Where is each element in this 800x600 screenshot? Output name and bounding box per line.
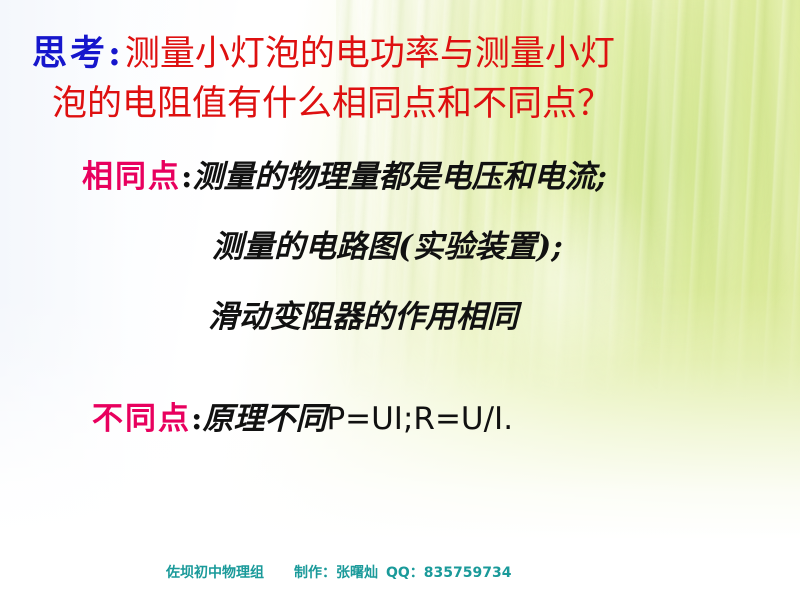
similarities-item-2: 测量的电路图(实验装置); xyxy=(212,229,563,265)
title-lead-label: 思考: xyxy=(32,33,125,74)
footer-organization: 佐坝初中物理组 xyxy=(166,565,264,581)
similarities-line-3: 滑动变阻器的作用相同 xyxy=(208,302,518,333)
differences-text: 原理不同 xyxy=(202,401,326,437)
footer-author: 制作：张曙灿 xyxy=(294,565,378,581)
similarities-item-3: 滑动变阻器的作用相同 xyxy=(208,299,518,335)
footer-credits: 佐坝初中物理组制作：张曙灿QQ：835759734 xyxy=(166,562,511,582)
slide-canvas: 思考:测量小灯泡的电功率与测量小灯 泡的电阻值有什么相同点和不同点？ 相同点:测… xyxy=(0,0,800,600)
similarities-line-2: 测量的电路图(实验装置); xyxy=(212,232,563,263)
differences-line: 不同点:原理不同P=UI;R=U/I. xyxy=(92,404,513,435)
similarities-separator: : xyxy=(181,159,192,195)
differences-separator: : xyxy=(191,401,202,437)
differences-key-label: 不同点 xyxy=(92,401,191,437)
title-line-1: 思考:测量小灯泡的电功率与测量小灯 xyxy=(32,36,615,72)
title-line-2-text: 泡的电阻值有什么相同点和不同点？ xyxy=(52,84,612,124)
title-line-1-text: 测量小灯泡的电功率与测量小灯 xyxy=(125,34,615,74)
similarities-key-label: 相同点 xyxy=(82,159,181,195)
similarities-item-1: 测量的物理量都是电压和电流; xyxy=(192,159,606,195)
similarities-line-1: 相同点:测量的物理量都是电压和电流; xyxy=(82,162,607,193)
title-line-2: 泡的电阻值有什么相同点和不同点？ xyxy=(52,87,612,122)
differences-formula: P=UI;R=U/I. xyxy=(326,401,513,437)
footer-qq: QQ：835759734 xyxy=(386,565,511,581)
slide-content: 思考:测量小灯泡的电功率与测量小灯 泡的电阻值有什么相同点和不同点？ 相同点:测… xyxy=(0,0,800,600)
